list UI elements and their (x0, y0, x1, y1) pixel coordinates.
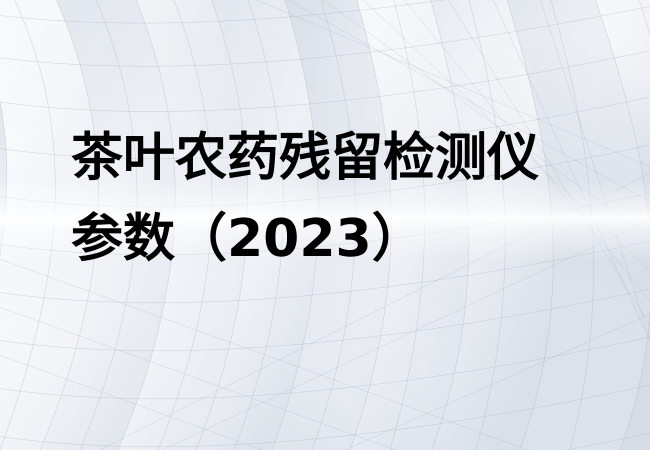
banner: 茶叶农药残留检测仪 参数（2023） (0, 0, 650, 450)
headline-line-2: 参数（2023） (71, 199, 591, 280)
headline-line-1: 茶叶农药残留检测仪 (71, 118, 591, 199)
headline: 茶叶农药残留检测仪 参数（2023） (71, 118, 591, 280)
